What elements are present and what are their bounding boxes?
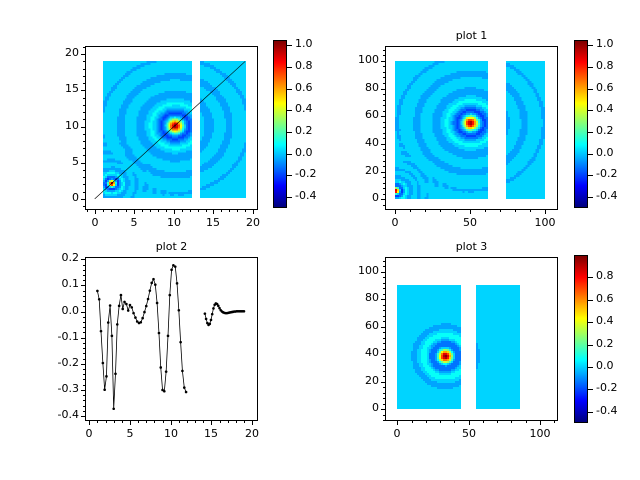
plot1-colorbar-ticklabel: 0.6 [596,81,614,94]
plot1-colorbar-tick [588,175,593,176]
plot2-yminor-tick [83,306,86,307]
plot2-xminor-tick [138,420,139,423]
plot1-xticklabel: 50 [450,216,490,229]
plot3-ytick [381,272,386,273]
plot0-xminor-tick [142,209,143,212]
plot3-ytick [381,409,386,410]
plot0-yminor-tick [83,112,86,113]
axes-plot2[interactable] [85,257,258,421]
plot3-yminor-tick [383,415,386,416]
plot3-yminor-tick [383,288,386,289]
plot0-xminor-tick [198,209,199,212]
axes-plot1[interactable] [385,46,558,210]
plot0-yminor-tick [83,83,86,84]
plot0-yticklabel: 15 [35,82,79,95]
plot3-yminor-tick [383,365,386,366]
plot2-yminor-tick [83,317,86,318]
plot0-colorbar [273,40,287,208]
plot1-ytick [381,61,386,62]
plot2-xminor-tick [179,420,180,423]
plot2-xtick [130,420,131,425]
plot3-yminor-tick [383,393,386,394]
plot0-xminor-tick [158,209,159,212]
plot1-colorbar-tick [588,89,593,90]
plot0-yticklabel: 20 [35,46,79,59]
plot0-ytick [81,199,86,200]
plot0-yminor-tick [83,177,86,178]
plot2-yminor-tick [83,400,86,401]
plot0-xminor-tick [182,209,183,212]
plot0-yminor-tick [83,192,86,193]
plot3-xminor-tick [426,420,427,423]
plot3-yminor-tick [383,310,386,311]
plot2-segment-b [204,302,246,326]
plot2-xminor-tick [114,420,115,423]
plot0-colorbar-ticklabel: 0.4 [295,102,313,115]
plot1-colorbar-ticklabel: 0.4 [596,102,614,115]
plot3-sinc-panel-left [397,285,461,409]
plot2-line-series [86,258,257,420]
plot0-xticklabel: 0 [75,216,115,229]
plot1-yminor-tick [383,166,386,167]
axes-plot0[interactable] [85,46,258,210]
plot3-xminor-tick [483,420,484,423]
plot3-yminor-tick [383,332,386,333]
axes-plot3[interactable] [385,257,558,421]
plot2-yminor-tick [83,280,86,281]
plot2-yminor-tick [83,275,86,276]
plot2-xticklabel: 5 [110,427,150,440]
plot1-xminor-tick [440,209,441,212]
plot1-yminor-tick [383,161,386,162]
plot0-xticklabel: 20 [233,216,273,229]
plot3-colorbar-tick [588,367,593,368]
plot3-yminor-tick [383,277,386,278]
plot0-yminor-tick [83,141,86,142]
plot2-xminor-tick [220,420,221,423]
plot0-xminor-tick [221,209,222,212]
plot0-ytick [81,127,86,128]
plot0-ytick [81,163,86,164]
plot1-colorbar-tick [588,110,593,111]
plot3-yminor-tick [383,387,386,388]
plot0-yminor-tick [83,206,86,207]
plot2-xticklabel: 0 [69,427,109,440]
plot3-colorbar-ticklabel: 0.4 [596,314,614,327]
plot2-yticklabel: 0.2 [35,251,79,264]
plot3-colorbar [574,255,588,423]
plot2-xminor-tick [228,420,229,423]
plot3-sinc-panel-right [476,285,520,409]
plot2-yticklabel: -0.1 [35,330,79,343]
plot0-xminor-tick [103,209,104,212]
plot3-yminor-tick [383,338,386,339]
plot1-sinc-panel-left [395,61,488,199]
plot3-xtick [469,420,470,425]
plot0-xtick [174,209,175,214]
plot0-xtick [253,209,254,214]
plot0-xminor-tick [237,209,238,212]
plot2-xminor-tick [106,420,107,423]
plot3-xminor-tick [440,420,441,423]
plot3-yminor-tick [383,316,386,317]
plot3-xtick [540,420,541,425]
plot1-yminor-tick [383,66,386,67]
plot2-xminor-tick [203,420,204,423]
plot2-xminor-tick [195,420,196,423]
plot2-yminor-tick [83,374,86,375]
plot2-yminor-tick [83,369,86,370]
plot0-yminor-tick [83,148,86,149]
plot1-ytick [381,89,386,90]
plot3-xtick [397,420,398,425]
plot0-colorbar-tick [287,154,292,155]
plot0-xticklabel: 10 [154,216,194,229]
plot1-colorbar-ticklabel: -0.4 [596,189,617,202]
plot3-yminor-tick [383,371,386,372]
plot2-ytick [81,285,86,286]
plot2-yminor-tick [83,270,86,271]
plot2-xtick [211,420,212,425]
plot0-colorbar-ticklabel: 0.6 [295,81,313,94]
plot2-xminor-tick [187,420,188,423]
plot3-xticklabel: 100 [520,427,560,440]
plot2-yminor-tick [83,301,86,302]
plot0-colorbar-tick [287,110,292,111]
plot1-yticklabel: 60 [335,108,379,121]
plot1-xtick [545,209,546,214]
plot1-yminor-tick [383,155,386,156]
plot0-colorbar-tick [287,67,292,68]
plot3-colorbar-ticklabel: -0.4 [596,404,617,417]
plot3-colorbar-tick [588,389,593,390]
plot1-xticklabel: 100 [525,216,565,229]
plot0-colorbar-ticklabel: 0.0 [295,146,313,159]
plot2-xminor-tick [146,420,147,423]
plot0-yminor-tick [83,105,86,106]
plot2-xminor-tick [122,420,123,423]
plot2-yminor-tick [83,291,86,292]
plot1-yminor-tick [383,50,386,51]
plot1-xtick [470,209,471,214]
plot3-yminor-tick [383,360,386,361]
plot1-colorbar-ticklabel: 0.2 [596,124,614,137]
plot1-yminor-tick [383,111,386,112]
plot3-yminor-tick [383,305,386,306]
plot2-yticklabel: -0.4 [35,408,79,421]
plot1-xminor-tick [515,209,516,212]
plot1-ytick [381,116,386,117]
plot1-sinc-panel-right [506,61,545,199]
plot3-yminor-tick [383,266,386,267]
plot1-yminor-tick [383,94,386,95]
plot0-xminor-tick [126,209,127,212]
plot2-xticklabel: 15 [191,427,231,440]
plot3-xminor-tick [554,420,555,423]
plot2-title: plot 2 [85,240,258,253]
plot1-xminor-tick [455,209,456,212]
plot2-yminor-tick [83,348,86,349]
plot0-xtick [134,209,135,214]
plot1-colorbar-ticklabel: 1.0 [596,37,614,50]
plot1-colorbar [574,40,588,208]
plot2-yminor-tick [83,296,86,297]
plot0-colorbar-tick [287,132,292,133]
plot3-colorbar-ticklabel: 0.0 [596,359,614,372]
plot3-colorbar-tick [588,345,593,346]
plot3-xminor-tick [412,420,413,423]
plot2-yminor-tick [83,322,86,323]
plot3-yminor-tick [383,261,386,262]
plot1-colorbar-ticklabel: 0.8 [596,59,614,72]
plot1-colorbar-tick [588,132,593,133]
plot0-colorbar-tick [287,45,292,46]
plot0-xminor-tick [229,209,230,212]
plot0-yminor-tick [83,184,86,185]
plot3-xticklabel: 50 [449,427,489,440]
plot2-ytick [81,416,86,417]
plot0-colorbar-tick [287,175,292,176]
plot2-yminor-tick [83,265,86,266]
plot0-colorbar-ticklabel: -0.2 [295,167,316,180]
plot1-yticklabel: 80 [335,81,379,94]
plot1-xminor-tick [485,209,486,212]
plot3-xminor-tick [454,420,455,423]
plot3-ytick [381,327,386,328]
plot1-yticklabel: 40 [335,136,379,149]
plot3-yminor-tick [383,376,386,377]
plot0-xminor-tick [87,209,88,212]
plot2-yminor-tick [83,411,86,412]
plot0-xtick [213,209,214,214]
plot3-yticklabel: 60 [335,319,379,332]
figure-canvas: plot 1 plot 2 plot 3 05101520051015201.0… [0,0,640,480]
plot3-title: plot 3 [385,240,558,253]
plot1-yminor-tick [383,138,386,139]
plot3-yminor-tick [383,420,386,421]
plot2-xtick [171,420,172,425]
plot2-yticklabel: -0.2 [35,356,79,369]
plot2-yminor-tick [83,343,86,344]
plot0-yminor-tick [83,61,86,62]
plot1-xtick [395,209,396,214]
plot3-xminor-tick [497,420,498,423]
plot1-yticklabel: 20 [335,164,379,177]
plot1-yticklabel: 100 [335,53,379,66]
plot3-colorbar-ticklabel: 0.8 [596,269,614,282]
plot0-xminor-tick [118,209,119,212]
plot1-yminor-tick [383,55,386,56]
plot3-yminor-tick [383,321,386,322]
plot1-yminor-tick [383,100,386,101]
plot3-yticklabel: 100 [335,264,379,277]
plot0-xminor-tick [206,209,207,212]
plot1-xminor-tick [530,209,531,212]
plot3-colorbar-ticklabel: -0.2 [596,381,617,394]
plot1-ytick [381,172,386,173]
plot3-ytick [381,299,386,300]
plot1-ytick [381,199,386,200]
plot1-yminor-tick [383,183,386,184]
plot0-yminor-tick [83,119,86,120]
plot0-yminor-tick [83,170,86,171]
plot1-colorbar-tick [588,67,593,68]
plot0-ytick [81,54,86,55]
plot3-colorbar-tick [588,412,593,413]
plot1-yminor-tick [383,122,386,123]
plot1-yminor-tick [383,177,386,178]
plot0-colorbar-ticklabel: 1.0 [295,37,313,50]
plot3-yticklabel: 20 [335,374,379,387]
plot0-ytick [81,90,86,91]
plot2-segment-a [96,264,187,410]
plot0-yminor-tick [83,76,86,77]
plot2-ytick [81,390,86,391]
plot0-yticklabel: 10 [35,119,79,132]
plot3-yminor-tick [383,343,386,344]
plot0-colorbar-tick [287,197,292,198]
plot0-yticklabel: 5 [35,155,79,168]
plot1-xminor-tick [500,209,501,212]
plot2-xminor-tick [163,420,164,423]
plot3-colorbar-tick [588,277,593,278]
plot0-xminor-tick [190,209,191,212]
plot2-xtick [89,420,90,425]
plot2-yminor-tick [83,379,86,380]
plot3-ytick [381,382,386,383]
plot0-xtick [95,209,96,214]
plot2-ytick [81,312,86,313]
plot1-colorbar-tick [588,45,593,46]
plot1-yminor-tick [383,83,386,84]
plot1-yminor-tick [383,77,386,78]
plot0-xminor-tick [245,209,246,212]
plot3-ytick [381,354,386,355]
plot2-xticklabel: 10 [151,427,191,440]
plot3-yminor-tick [383,283,386,284]
plot0-yminor-tick [83,47,86,48]
plot1-yminor-tick [383,149,386,150]
plot0-xminor-tick [111,209,112,212]
plot0-colorbar-ticklabel: -0.4 [295,189,316,202]
plot3-xticklabel: 0 [377,427,417,440]
plot2-yticklabel: -0.3 [35,382,79,395]
plot1-colorbar-tick [588,154,593,155]
plot0-yminor-tick [83,98,86,99]
plot2-xticklabel: 20 [232,427,272,440]
plot0-yticklabel: 0 [35,191,79,204]
plot1-colorbar-tick [588,197,593,198]
plot1-yticklabel: 0 [335,191,379,204]
plot3-yminor-tick [383,294,386,295]
plot1-xticklabel: 0 [375,216,415,229]
plot3-colorbar-ticklabel: 0.2 [596,337,614,350]
plot2-yminor-tick [83,353,86,354]
plot2-yminor-tick [83,327,86,328]
plot3-colorbar-ticklabel: 0.6 [596,292,614,305]
plot0-colorbar-tick [287,89,292,90]
plot3-yticklabel: 0 [335,401,379,414]
plot0-colorbar-ticklabel: 0.8 [295,59,313,72]
plot2-xminor-tick [97,420,98,423]
plot2-xminor-tick [154,420,155,423]
plot0-colorbar-ticklabel: 0.2 [295,124,313,137]
plot1-yminor-tick [383,194,386,195]
plot3-yminor-tick [383,404,386,405]
plot0-yminor-tick [83,69,86,70]
plot0-yminor-tick [83,134,86,135]
plot2-yminor-tick [83,395,86,396]
plot0-xticklabel: 5 [114,216,154,229]
plot2-ytick [81,364,86,365]
plot1-ytick [381,144,386,145]
plot3-yminor-tick [383,398,386,399]
plot2-yticklabel: 0.1 [35,277,79,290]
plot3-xminor-tick [526,420,527,423]
plot3-yticklabel: 80 [335,291,379,304]
plot3-colorbar-tick [588,300,593,301]
plot1-yminor-tick [383,188,386,189]
plot1-xminor-tick [410,209,411,212]
plot1-yminor-tick [383,105,386,106]
plot2-xtick [252,420,253,425]
plot2-ytick [81,338,86,339]
plot0-diagonal-line [86,47,257,209]
plot0-xminor-tick [150,209,151,212]
plot1-xminor-tick [425,209,426,212]
plot2-yminor-tick [83,385,86,386]
plot3-colorbar-tick [588,322,593,323]
plot1-yminor-tick [383,127,386,128]
plot2-xminor-tick [244,420,245,423]
plot0-yminor-tick [83,155,86,156]
plot3-yticklabel: 40 [335,346,379,359]
plot2-yminor-tick [83,359,86,360]
plot1-yminor-tick [383,72,386,73]
plot1-colorbar-ticklabel: -0.2 [596,167,617,180]
plot2-yminor-tick [83,406,86,407]
plot0-xticklabel: 15 [193,216,233,229]
plot1-yminor-tick [383,205,386,206]
plot2-yminor-tick [83,332,86,333]
plot3-xminor-tick [511,420,512,423]
plot1-colorbar-ticklabel: 0.0 [596,146,614,159]
plot2-xminor-tick [236,420,237,423]
plot2-yticklabel: 0.0 [35,304,79,317]
plot0-xminor-tick [166,209,167,212]
plot2-ytick [81,259,86,260]
plot1-yminor-tick [383,133,386,134]
plot3-yminor-tick [383,349,386,350]
plot1-title: plot 1 [385,29,558,42]
